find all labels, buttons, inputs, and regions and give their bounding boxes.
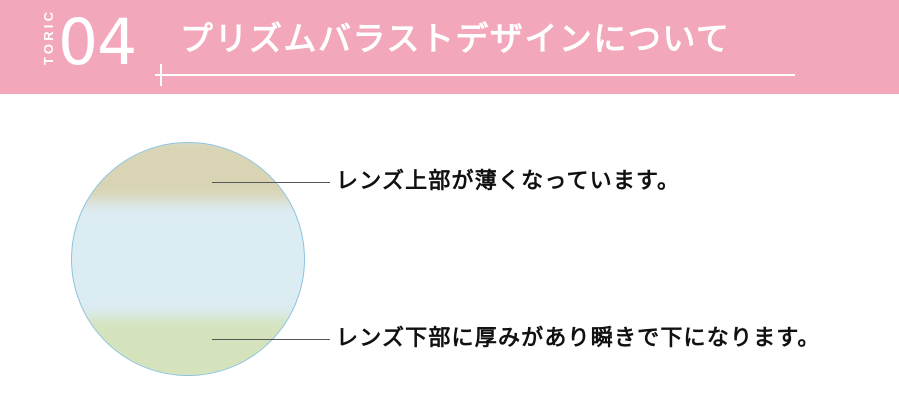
annotation-label-bottom: レンズ下部に厚みがあり瞬きで下になります。 xyxy=(336,328,821,350)
topic-number-block: TORIC 04 xyxy=(42,8,136,70)
leader-line-top xyxy=(212,182,330,183)
topic-kicker-label: TORIC xyxy=(42,8,55,66)
lens-diagram-area: レンズ上部が薄くなっています。 レンズ下部に厚みがあり瞬きで下になります。 xyxy=(0,94,899,409)
topic-number: 04 xyxy=(58,15,136,70)
lens-thin-top-band xyxy=(71,142,305,201)
annotation-label-top: レンズ上部が薄くなっています。 xyxy=(336,171,680,193)
leader-line-bottom xyxy=(212,339,330,340)
header-rule-tick xyxy=(160,64,162,86)
lens-illustration xyxy=(71,142,305,376)
topic-header-banner: TORIC 04 プリズムバラストデザインについて xyxy=(0,0,899,94)
header-underline-rule xyxy=(155,74,795,76)
page-title: プリズムバラストデザインについて xyxy=(180,14,730,64)
lens-thick-bottom-band xyxy=(71,317,305,376)
